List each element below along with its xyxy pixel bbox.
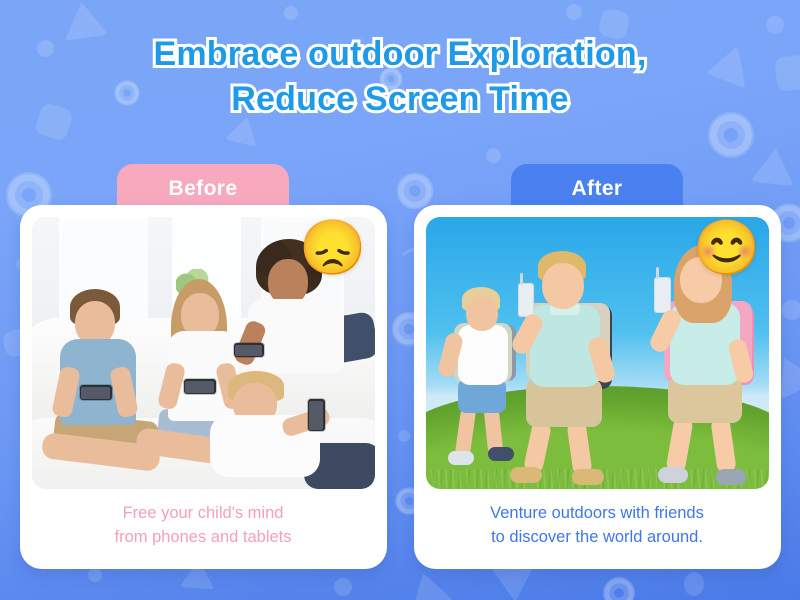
circle-shape-icon [88,568,102,582]
walkie-talkie-icon [518,283,534,317]
column-before: Before [20,164,387,569]
shirt-shape [458,325,508,385]
circle-shape-icon [334,578,352,596]
shoe-shape [448,451,474,465]
spiral-shape-icon [603,577,635,600]
disappointed-face-emoji: 😞 [299,221,366,275]
photo-after: 😊 [426,217,769,489]
shoe-shape [572,469,604,485]
poster-canvas: Embrace outdoor Exploration, Reduce Scre… [0,0,800,600]
triangle-shape-icon [402,567,454,600]
photo-before: 😞 [32,217,375,489]
shoe-shape [716,469,746,485]
caption-before: Free your child's mind from phones and t… [32,489,375,569]
page-title: Embrace outdoor Exploration, Reduce Scre… [0,32,800,122]
smartphone-icon [80,385,112,400]
shoe-shape [658,467,688,483]
smartphone-icon [184,379,216,394]
comparison-columns: Before [0,164,800,569]
shoe-shape [510,467,542,483]
triangle-shape-icon [491,565,537,600]
column-after: After [414,164,781,569]
head-shape [542,263,584,309]
caption-after: Venture outdoors with friends to discove… [426,489,769,569]
head-shape [466,297,498,331]
circle-shape-icon [486,148,501,163]
circle-shape-icon [566,4,582,20]
walkie-talkie-icon [654,277,671,313]
smartphone-icon [308,399,325,431]
circle-shape-icon [684,572,704,596]
card-before: 😞 Free your child's mind from phones and… [20,205,387,569]
smartphone-icon [234,343,264,357]
circle-shape-icon [284,6,298,20]
smiling-face-emoji: 😊 [693,221,760,275]
card-after: 😊 Venture outdoors with friends to disco… [414,205,781,569]
shoe-shape [488,447,514,461]
